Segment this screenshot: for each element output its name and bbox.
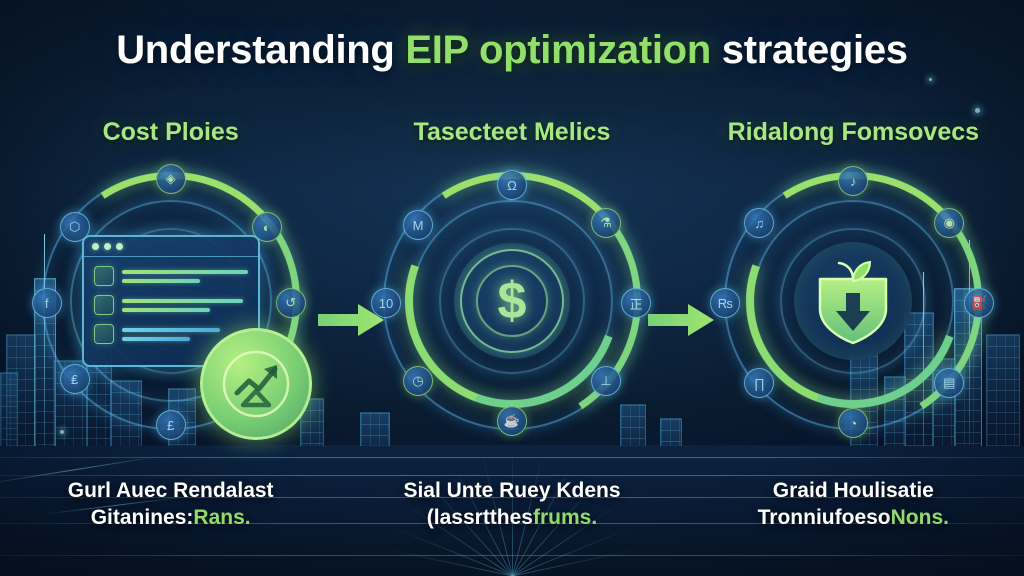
column-1-cluster: ◈ ⬡ ◐ f ↺ ₤ £ bbox=[36, 166, 306, 436]
caption-line-2: TronniufoesoNons. bbox=[683, 504, 1024, 532]
column-1-caption: Gurl Auec Rendalast Gitanines:Rans. bbox=[0, 477, 341, 532]
node-lower-left-icon[interactable]: ₤ bbox=[60, 364, 90, 394]
node-top-icon[interactable]: Ω bbox=[497, 170, 527, 200]
flow-arrow-2 bbox=[648, 303, 714, 337]
node-right-icon[interactable]: ⛽ bbox=[964, 288, 994, 318]
node-left-icon[interactable]: f bbox=[32, 288, 62, 318]
caption-line-2: (lassrtthesfrums. bbox=[341, 504, 682, 532]
caption-line-2-plain: (lassrtthes bbox=[427, 506, 533, 529]
list-item-icon bbox=[94, 295, 114, 315]
window-dot-1 bbox=[92, 243, 99, 250]
caption-line-2-accent: Nons. bbox=[891, 506, 949, 529]
node-left-icon[interactable]: ₨ bbox=[710, 288, 740, 318]
infographic-canvas: Understanding EIP optimization strategie… bbox=[0, 0, 1024, 576]
caption-line-1: Sial Unte Ruey Kdens bbox=[341, 477, 682, 505]
caption-line-2-plain: Gitanines: bbox=[91, 506, 194, 529]
column-cost-ploies[interactable]: Cost Ploies ◈ ⬡ ◐ f ↺ ₤ £ bbox=[0, 118, 341, 538]
dollar-target-icon: $ bbox=[454, 243, 570, 359]
title-part-1: Understanding bbox=[116, 28, 405, 72]
node-upper-left-icon[interactable]: ♫ bbox=[744, 208, 774, 238]
node-top-icon[interactable]: ♪ bbox=[838, 166, 868, 196]
node-lower-right-icon[interactable]: ▤ bbox=[934, 368, 964, 398]
node-right-icon[interactable]: ↺ bbox=[276, 288, 306, 318]
node-bottom-icon[interactable]: £ bbox=[156, 410, 186, 440]
window-dot-3 bbox=[116, 243, 123, 250]
node-upper-right-icon[interactable]: ◉ bbox=[934, 208, 964, 238]
title-accent: EIP optimization bbox=[405, 28, 711, 72]
list-item-lines bbox=[122, 299, 248, 312]
window-titlebar bbox=[84, 237, 258, 257]
node-upper-right-icon[interactable]: ⚗ bbox=[591, 208, 621, 238]
caption-line-2-plain: Tronniufoeso bbox=[758, 506, 891, 529]
column-tasecteet-melics[interactable]: Tasecteet Melics Ω М ⚗ 10 正 ◷ ⊥ ☕ bbox=[341, 118, 682, 538]
node-lower-left-icon[interactable]: ∏ bbox=[744, 368, 774, 398]
node-top-icon[interactable]: ◈ bbox=[156, 164, 186, 194]
caption-line-1: Graid Houlisatie bbox=[683, 477, 1024, 505]
node-bottom-icon[interactable]: ☕ bbox=[497, 406, 527, 436]
column-2-heading: Tasecteet Melics bbox=[341, 118, 682, 147]
growth-coin-icon bbox=[200, 328, 312, 440]
list-item-icon bbox=[94, 324, 114, 344]
caption-line-2-accent: frums. bbox=[533, 506, 597, 529]
column-2-cluster: Ω М ⚗ 10 正 ◷ ⊥ ☕ $ bbox=[377, 166, 647, 436]
node-lower-right-icon[interactable]: ⊥ bbox=[591, 366, 621, 396]
column-2-core: $ bbox=[454, 243, 570, 359]
page-title: Understanding EIP optimization strategie… bbox=[0, 28, 1024, 73]
column-3-cluster: ♪ ♫ ◉ ₨ ⛽ ∏ ▤ ◔ bbox=[718, 166, 988, 436]
node-right-icon[interactable]: 正 bbox=[621, 288, 651, 318]
column-3-heading: Ridalong Fomsovecs bbox=[683, 118, 1024, 147]
list-item-lines bbox=[122, 270, 248, 283]
strategy-columns: Cost Ploies ◈ ⬡ ◐ f ↺ ₤ £ bbox=[0, 118, 1024, 538]
column-3-caption: Graid Houlisatie TronniufoesoNons. bbox=[683, 477, 1024, 532]
caption-line-1: Gurl Auec Rendalast bbox=[0, 477, 341, 505]
column-1-heading: Cost Ploies bbox=[0, 118, 341, 147]
caption-line-2-accent: Rans. bbox=[193, 506, 250, 529]
list-item bbox=[94, 266, 248, 286]
column-ridalong-fomsovecs[interactable]: Ridalong Fomsovecs ♪ ♫ ◉ ₨ ⛽ ∏ ▤ ◔ bbox=[683, 118, 1024, 538]
column-3-core bbox=[794, 242, 912, 360]
column-2-caption: Sial Unte Ruey Kdens (lassrtthesfrums. bbox=[341, 477, 682, 532]
node-lower-left-icon[interactable]: ◷ bbox=[403, 366, 433, 396]
caption-line-2: Gitanines:Rans. bbox=[0, 504, 341, 532]
title-part-2: strategies bbox=[711, 28, 908, 72]
eco-shield-download-icon bbox=[794, 242, 912, 360]
window-dot-2 bbox=[104, 243, 111, 250]
dollar-sign-glyph: $ bbox=[498, 275, 527, 327]
node-bottom-icon[interactable]: ◔ bbox=[838, 408, 868, 438]
flow-arrow-1 bbox=[318, 303, 384, 337]
node-upper-left-icon[interactable]: М bbox=[403, 210, 433, 240]
list-item bbox=[94, 295, 248, 315]
list-item-icon bbox=[94, 266, 114, 286]
